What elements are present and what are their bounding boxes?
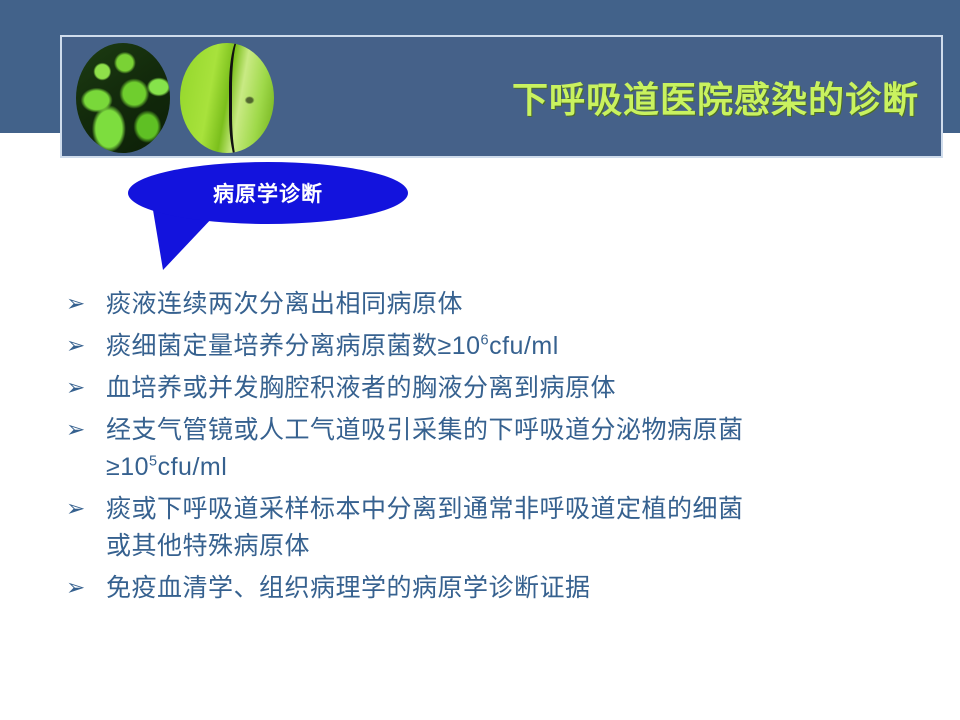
bullet-line-primary: 痰或下呼吸道采样标本中分离到通常非呼吸道定植的细菌: [106, 491, 946, 528]
bullet-line-primary: 痰细菌定量培养分离病原菌数≥106cfu/ml: [106, 328, 946, 365]
header-inner-box: 下呼吸道医院感染的诊断: [60, 35, 943, 158]
bullet-item: ➢痰细菌定量培养分离病原菌数≥106cfu/ml: [66, 328, 946, 365]
callout-bubble: 病原学诊断: [128, 162, 408, 224]
bullet-text: 经支气管镜或人工气道吸引采集的下呼吸道分泌物病原菌≥105cfu/ml: [106, 412, 946, 486]
exponent-superscript: 6: [481, 333, 490, 349]
callout-label: 病原学诊断: [128, 162, 408, 224]
bullet-item: ➢免疫血清学、组织病理学的病原学诊断证据: [66, 570, 946, 607]
exponent-superscript: 5: [149, 454, 158, 470]
bullet-arrow-icon: ➢: [66, 412, 106, 446]
bullet-text: 痰细菌定量培养分离病原菌数≥106cfu/ml: [106, 328, 946, 365]
bullet-arrow-icon: ➢: [66, 570, 106, 604]
bullet-text: 痰或下呼吸道采样标本中分离到通常非呼吸道定植的细菌或其他特殊病原体: [106, 491, 946, 565]
bullet-text: 血培养或并发胸腔积液者的胸液分离到病原体: [106, 370, 946, 407]
bullet-item: ➢经支气管镜或人工气道吸引采集的下呼吸道分泌物病原菌≥105cfu/ml: [66, 412, 946, 486]
bullet-line-primary: 血培养或并发胸腔积液者的胸液分离到病原体: [106, 370, 946, 407]
bullet-text: 免疫血清学、组织病理学的病原学诊断证据: [106, 570, 946, 607]
bullet-line-continuation: ≥105cfu/ml: [106, 449, 946, 486]
bullet-item: ➢痰或下呼吸道采样标本中分离到通常非呼吸道定植的细菌或其他特殊病原体: [66, 491, 946, 565]
bullet-arrow-icon: ➢: [66, 370, 106, 404]
bullet-text: 痰液连续两次分离出相同病原体: [106, 286, 946, 323]
bullet-arrow-icon: ➢: [66, 328, 106, 362]
bullet-line-suffix: cfu/ml: [489, 332, 559, 360]
bullet-arrow-icon: ➢: [66, 286, 106, 320]
bullet-line-continuation: 或其他特殊病原体: [106, 528, 946, 565]
bullet-line-suffix: cfu/ml: [158, 453, 228, 481]
bullet-item: ➢血培养或并发胸腔积液者的胸液分离到病原体: [66, 370, 946, 407]
leaf-closeup-thumbnail: [76, 43, 170, 153]
bullet-line-primary: 免疫血清学、组织病理学的病原学诊断证据: [106, 570, 946, 607]
bullet-line-prefix: 痰细菌定量培养分离病原菌数≥10: [106, 332, 481, 360]
page-title: 下呼吸道医院感染的诊断: [512, 71, 919, 123]
bullet-arrow-icon: ➢: [66, 491, 106, 525]
bullet-line-primary: 痰液连续两次分离出相同病原体: [106, 286, 946, 323]
bullet-line-prefix: ≥10: [106, 453, 149, 481]
puzzle-leaf-thumbnail: [180, 43, 274, 153]
bullet-list: ➢痰液连续两次分离出相同病原体➢痰细菌定量培养分离病原菌数≥106cfu/ml➢…: [66, 286, 946, 612]
bullet-line-primary: 经支气管镜或人工气道吸引采集的下呼吸道分泌物病原菌: [106, 412, 946, 449]
bullet-item: ➢痰液连续两次分离出相同病原体: [66, 286, 946, 323]
